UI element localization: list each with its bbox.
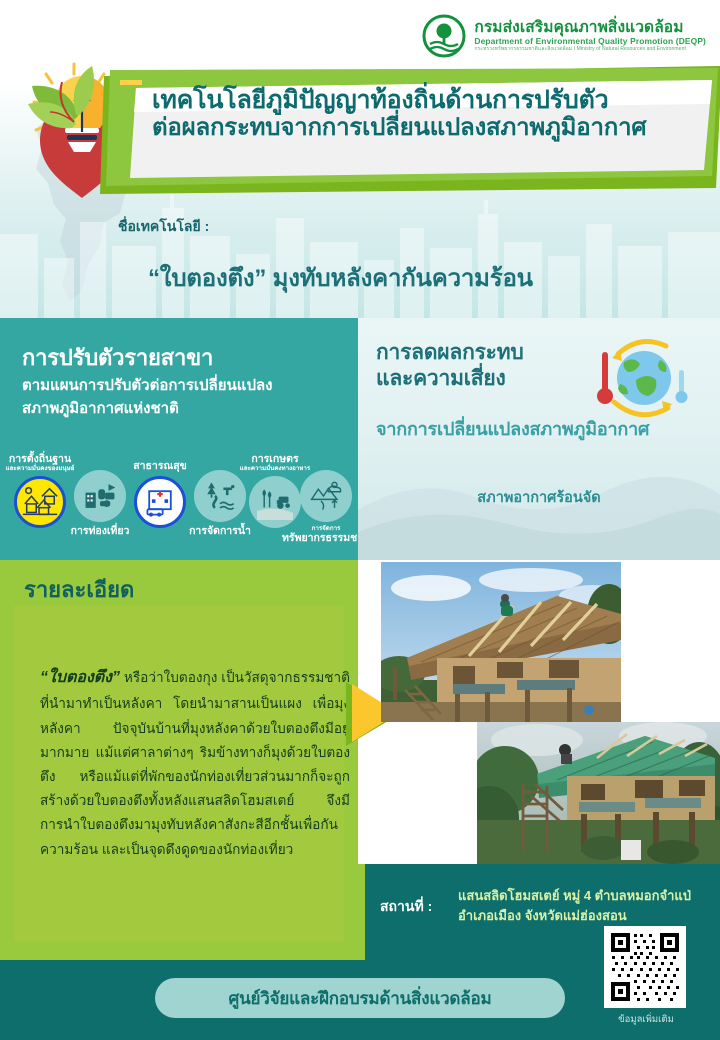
sector-item-natural-resources[interactable]: การจัดการ ทรัพยากรธรรมชาติ	[300, 470, 352, 522]
agriculture-icon	[249, 476, 301, 528]
mitigation-heading: การลดผลกระทบ และความเสี่ยง	[376, 340, 576, 391]
deqp-logo: กรมส่งเสริมคุณภาพสิ่งแวดล้อม Department …	[422, 14, 706, 58]
sector-label-natural-resources: การจัดการ ทรัพยากรธรรมชาติ	[282, 526, 370, 544]
sector-item-agriculture[interactable]: การเกษตร และความมั่นคงทางอาหาร	[249, 476, 301, 528]
title-line-1: เทคโนโลยีภูมิปัญญาท้องถิ่นด้านการปรับตัว	[152, 86, 712, 114]
sector-item-water[interactable]: การจัดการน้ำ	[194, 470, 246, 522]
natural-resources-icon	[300, 470, 352, 522]
mitigation-heading-line1: การลดผลกระทบ	[376, 340, 576, 366]
research-center-pill[interactable]: ศูนย์วิจัยและฝึกอบรมด้านสิ่งแวดล้อม	[155, 978, 565, 1018]
public-health-icon	[134, 476, 186, 528]
qr-code-icon[interactable]	[604, 926, 686, 1008]
header-background: กรมส่งเสริมคุณภาพสิ่งแวดล้อม Department …	[0, 0, 720, 318]
technology-name-value: “ใบตองตึง” มุงทับหลังคากันความร้อน	[148, 258, 533, 297]
adaptation-heading: การปรับตัวรายสาขา	[22, 340, 213, 375]
detail-body-text: หรือว่าใบตองกุง เป็นวัสดุจากธรรมชาติที่น…	[40, 670, 350, 857]
adaptation-panel: การปรับตัวรายสาขา ตามแผนการปรับตัวต่อการ…	[0, 318, 358, 560]
sector-item-settlement[interactable]: การตั้งถิ่นฐาน และความมั่นคงของมนุษย์	[14, 476, 66, 528]
detail-body: “ใบตองตึง” หรือว่าใบตองกุง เป็นวัสดุจากธ…	[40, 664, 350, 862]
sector-item-tourism[interactable]: การท่องเที่ยว	[74, 470, 126, 522]
location-accent-stripe	[358, 864, 365, 960]
org-ministry: กระทรวงทรัพยากรธรรมชาติและสิ่งแวดล้อม I …	[474, 47, 706, 52]
location-value: แสนสลิดโฮมสเตย์ หมู่ 4 ตำบลหมอกจำแป่ อำเ…	[458, 886, 708, 926]
technology-name-label: ชื่อเทคโนโลยี :	[118, 216, 209, 238]
mitigation-heading-line2: และความเสี่ยง	[376, 366, 576, 392]
poster-title: เทคโนโลยีภูมิปัญญาท้องถิ่นด้านการปรับตัว…	[152, 86, 712, 142]
detail-text-card: “ใบตองตึง” หรือว่าใบตองกุง เป็นวัสดุจากธ…	[14, 606, 344, 942]
tourism-icon	[74, 470, 126, 522]
settlement-icon	[14, 476, 66, 528]
globe-thermometer-icon	[584, 332, 696, 428]
sector-label-tourism: การท่องเที่ยว	[71, 526, 130, 537]
sector-icon-strip: การตั้งถิ่นฐาน และความมั่นคงของมนุษย์	[0, 446, 358, 560]
poster-root: กรมส่งเสริมคุณภาพสิ่งแวดล้อม Department …	[0, 0, 720, 1040]
adaptation-subheading: ตามแผนการปรับตัวต่อการเปลี่ยนแปลง สภาพภู…	[22, 374, 348, 421]
org-name-en: Department of Environmental Quality Prom…	[474, 37, 706, 46]
sector-label-water: การจัดการน้ำ	[189, 526, 251, 537]
sector-label-settlement: การตั้งถิ่นฐาน และความมั่นคงของมนุษย์	[6, 454, 75, 472]
adaptation-subheading-line2: สภาพภูมิอากาศแห่งชาติ	[22, 397, 348, 420]
mitigation-panel: การลดผลกระทบ และความเสี่ยง จากการเปลี่ยน…	[358, 318, 720, 560]
detail-heading: รายละเอียด	[24, 572, 134, 607]
sector-label-public-health: สาธารณสุข	[133, 461, 187, 472]
middle-section: การปรับตัวรายสาขา ตามแผนการปรับตัวต่อการ…	[0, 318, 720, 560]
thermometer-hot-icon	[597, 352, 613, 404]
location-line-2: อำเภอเมือง จังหวัดแม่ฮ่องสอน	[458, 906, 708, 926]
photo-homestay-house	[477, 722, 720, 864]
deqp-emblem-icon	[422, 14, 466, 58]
sector-item-public-health[interactable]: สาธารณสุข	[134, 476, 186, 528]
photo-roof-construction	[381, 562, 621, 722]
detail-panel: รายละเอียด “ใบตองตึง” หรือว่าใบตองกุง เป…	[0, 560, 358, 960]
title-line-2: ต่อผลกระทบจากการเปลี่ยนแปลงสภาพภูมิอากาศ	[152, 115, 712, 142]
thermometer-cold-icon	[676, 370, 688, 403]
mitigation-note: สภาพอากาศร้อนจัด	[358, 486, 720, 509]
research-center-name: ศูนย์วิจัยและฝึกอบรมด้านสิ่งแวดล้อม	[229, 985, 492, 1012]
adaptation-subheading-line1: ตามแผนการปรับตัวต่อการเปลี่ยนแปลง	[22, 374, 348, 397]
location-label: สถานที่ :	[380, 896, 432, 918]
qr-caption: ข้อมูลเพิ่มเติม	[600, 1012, 692, 1027]
org-name-th: กรมส่งเสริมคุณภาพสิ่งแวดล้อม	[474, 20, 706, 36]
detail-lead-term: “ใบตองตึง”	[40, 669, 120, 686]
water-management-icon	[194, 470, 246, 522]
location-line-1: แสนสลิดโฮมสเตย์ หมู่ 4 ตำบลหมอกจำแป่	[458, 886, 708, 906]
